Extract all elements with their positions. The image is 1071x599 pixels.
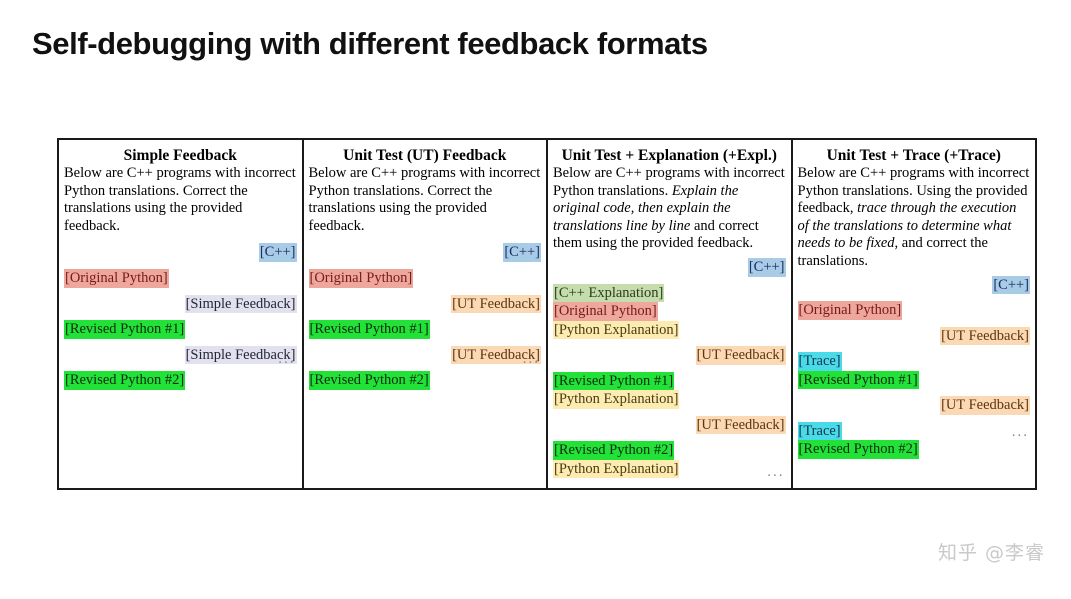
tag-row: [Original Python] bbox=[553, 302, 786, 321]
tag-row: [Python Explanation] bbox=[553, 390, 786, 409]
tag-row: [C++] bbox=[798, 276, 1031, 295]
ellipsis-simple-feedback: ... bbox=[278, 352, 295, 367]
tag-row: [Trace] bbox=[798, 352, 1031, 371]
tag-row: [UT Feedback] bbox=[798, 396, 1031, 415]
ellipsis-unit-test-trace: ... bbox=[1012, 425, 1029, 440]
tag-row: [C++] bbox=[64, 243, 297, 262]
column-description-unit-test-feedback: Below are C++ programs with incorrect Py… bbox=[309, 165, 542, 235]
prompt-flow-unit-test-trace: [C++] [Original Python] [UT Feedback] [T… bbox=[798, 276, 1031, 459]
prompt-flow-unit-test-explanation: [C++] [C++ Explanation] [Original Python… bbox=[553, 258, 786, 478]
tag-row: [UT Feedback] bbox=[798, 327, 1031, 346]
tag-original-python[interactable]: [Original Python] bbox=[64, 269, 169, 288]
ellipsis-unit-test-explanation: ... bbox=[767, 465, 784, 480]
tag-row: [C++ Explanation] bbox=[553, 284, 786, 303]
tag-python-explanation-1[interactable]: [Python Explanation] bbox=[553, 321, 679, 340]
tag-revised-python-2[interactable]: [Revised Python #2] bbox=[309, 371, 430, 390]
tag-row: [Revised Python #2] bbox=[64, 371, 297, 390]
tag-trace-2[interactable]: [Trace] bbox=[798, 422, 842, 441]
tag-revised-python-2[interactable]: [Revised Python #2] bbox=[553, 441, 674, 460]
tag-row: [Revised Python #1] bbox=[309, 320, 542, 339]
tag-row: [Simple Feedback] bbox=[64, 346, 297, 365]
tag-row: [Revised Python #2] bbox=[798, 440, 1031, 459]
column-description-unit-test-trace: Below are C++ programs with incorrect Py… bbox=[798, 165, 1031, 270]
tag-row: [Revised Python #1] bbox=[553, 372, 786, 391]
tag-ut-feedback-1[interactable]: [UT Feedback] bbox=[940, 327, 1030, 346]
tag-row: [Original Python] bbox=[309, 269, 542, 288]
zhihu-watermark: 知乎 @李睿 bbox=[938, 538, 1045, 565]
tag-revised-python-1[interactable]: [Revised Python #1] bbox=[309, 320, 430, 339]
column-unit-test-feedback: Unit Test (UT) Feedback Below are C++ pr… bbox=[304, 140, 549, 488]
column-unit-test-trace: Unit Test + Trace (+Trace) Below are C++… bbox=[793, 140, 1036, 488]
tag-original-python[interactable]: [Original Python] bbox=[553, 302, 658, 321]
column-simple-feedback: Simple Feedback Below are C++ programs w… bbox=[59, 140, 304, 488]
tag-cpp-explanation[interactable]: [C++ Explanation] bbox=[553, 284, 664, 303]
tag-row: [UT Feedback] bbox=[553, 416, 786, 435]
slide-canvas: Self-debugging with different feedback f… bbox=[0, 0, 1071, 599]
prompt-flow-simple-feedback: [C++] [Original Python] [Simple Feedback… bbox=[64, 243, 297, 389]
tag-revised-python-2[interactable]: [Revised Python #2] bbox=[798, 440, 919, 459]
tag-trace-1[interactable]: [Trace] bbox=[798, 352, 842, 371]
column-title-unit-test-trace: Unit Test + Trace (+Trace) bbox=[798, 147, 1031, 164]
tag-row: [Simple Feedback] bbox=[64, 295, 297, 314]
tag-row: [Original Python] bbox=[798, 301, 1031, 320]
tag-row: [Revised Python #1] bbox=[798, 371, 1031, 390]
tag-python-explanation-3[interactable]: [Python Explanation] bbox=[553, 460, 679, 479]
tag-cpp[interactable]: [C++] bbox=[259, 243, 297, 262]
column-unit-test-explanation: Unit Test + Explanation (+Expl.) Below a… bbox=[548, 140, 793, 488]
tag-row: [Python Explanation] bbox=[553, 460, 786, 479]
tag-cpp[interactable]: [C++] bbox=[992, 276, 1030, 295]
tag-row: [Trace] bbox=[798, 422, 1031, 441]
ellipsis-unit-test-feedback: ... bbox=[523, 352, 540, 367]
prompt-flow-unit-test-feedback: [C++] [Original Python] [UT Feedback] [R… bbox=[309, 243, 542, 389]
tag-ut-feedback-2[interactable]: [UT Feedback] bbox=[940, 396, 1030, 415]
tag-ut-feedback-1[interactable]: [UT Feedback] bbox=[451, 295, 541, 314]
tag-row: [Original Python] bbox=[64, 269, 297, 288]
tag-row: [UT Feedback] bbox=[309, 346, 542, 365]
tag-original-python[interactable]: [Original Python] bbox=[309, 269, 414, 288]
tag-revised-python-1[interactable]: [Revised Python #1] bbox=[64, 320, 185, 339]
tag-row: [Revised Python #2] bbox=[553, 441, 786, 460]
column-description-unit-test-explanation: Below are C++ programs with incorrect Py… bbox=[553, 165, 786, 253]
tag-cpp[interactable]: [C++] bbox=[748, 258, 786, 277]
tag-ut-feedback-1[interactable]: [UT Feedback] bbox=[696, 346, 786, 365]
tag-python-explanation-2[interactable]: [Python Explanation] bbox=[553, 390, 679, 409]
tag-revised-python-1[interactable]: [Revised Python #1] bbox=[798, 371, 919, 390]
tag-revised-python-1[interactable]: [Revised Python #1] bbox=[553, 372, 674, 391]
tag-cpp[interactable]: [C++] bbox=[503, 243, 541, 262]
tag-row: [C++] bbox=[309, 243, 542, 262]
tag-row: [UT Feedback] bbox=[309, 295, 542, 314]
column-title-unit-test-explanation: Unit Test + Explanation (+Expl.) bbox=[553, 147, 786, 164]
feedback-format-table: Simple Feedback Below are C++ programs w… bbox=[57, 138, 1037, 490]
column-description-simple-feedback: Below are C++ programs with incorrect Py… bbox=[64, 165, 297, 235]
tag-row: [Revised Python #1] bbox=[64, 320, 297, 339]
column-title-unit-test-feedback: Unit Test (UT) Feedback bbox=[309, 147, 542, 164]
tag-ut-feedback-2[interactable]: [UT Feedback] bbox=[696, 416, 786, 435]
tag-row: [C++] bbox=[553, 258, 786, 277]
tag-row: [Python Explanation] bbox=[553, 321, 786, 340]
tag-row: [UT Feedback] bbox=[553, 346, 786, 365]
tag-simple-feedback-1[interactable]: [Simple Feedback] bbox=[185, 295, 297, 314]
page-title: Self-debugging with different feedback f… bbox=[32, 26, 708, 62]
tag-original-python[interactable]: [Original Python] bbox=[798, 301, 903, 320]
tag-row: [Revised Python #2] bbox=[309, 371, 542, 390]
tag-revised-python-2[interactable]: [Revised Python #2] bbox=[64, 371, 185, 390]
column-title-simple-feedback: Simple Feedback bbox=[64, 147, 297, 164]
